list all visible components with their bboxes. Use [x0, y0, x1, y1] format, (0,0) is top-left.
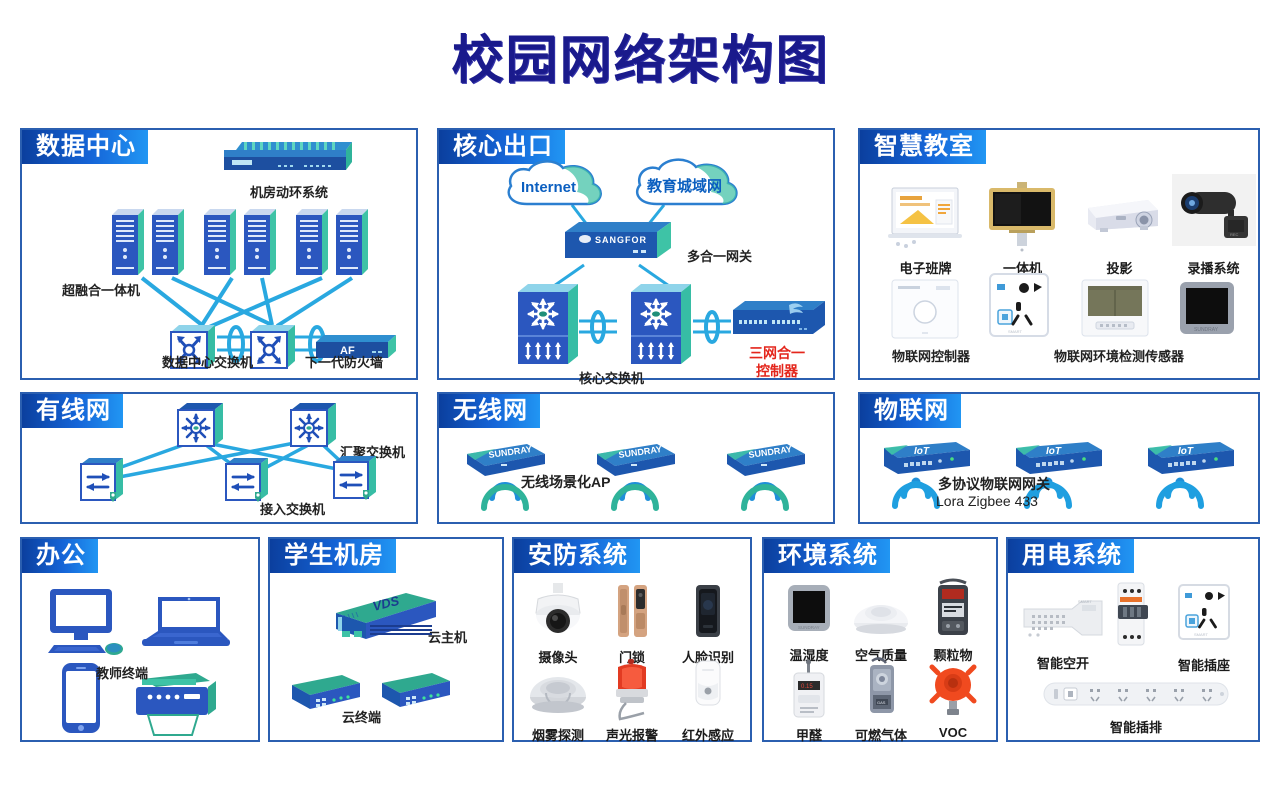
panel-environment-system: 环境系统 SUNDRAY 温湿度 空气质量 颗粒物	[762, 537, 998, 742]
security-item-door-lock: 门锁	[596, 581, 668, 666]
three-network-controller-icon	[729, 298, 829, 340]
svg-text:SMART: SMART	[1194, 632, 1208, 637]
smart-classroom-item-env-sensor-screen: SUNDRAY	[1160, 278, 1255, 344]
caption-formaldehyde: 甲醛	[774, 725, 844, 744]
access-switch-3-icon	[330, 454, 384, 506]
panel-power-system: 用电系统 SMART 智能空开	[1006, 537, 1260, 742]
panel-office: 办公	[20, 537, 260, 742]
panel-wireless-network: 无线网 SUNDRAY SUNDRAY	[437, 392, 835, 524]
caption-iot-controller: 物联网控制器	[892, 346, 970, 365]
caption-sound-light-alarm: 声光报警	[596, 725, 668, 744]
smart-classroom-item-env-sensor-panel	[1068, 278, 1163, 344]
caption-electronic-class-board: 电子班牌	[878, 258, 973, 277]
label-iot-gateway: 多协议物联网网关	[938, 474, 1050, 494]
label-access-switch: 接入交换机	[260, 499, 325, 518]
gateway-brand-label: SANGFOR	[595, 235, 647, 245]
label-hci: 超融合一体机	[62, 280, 140, 299]
panel-header-smart-classroom: 智慧教室	[860, 130, 986, 164]
label-dc-switch: 数据中心交换机	[162, 352, 253, 371]
label-wireless-ap: 无线场景化AP	[521, 472, 610, 492]
security-item-camera: 摄像头	[522, 581, 594, 666]
label-teacher-terminal: 教师终端	[96, 663, 148, 682]
access-switch-1-icon	[77, 456, 131, 508]
label-multi-function-gateway: 多合一网关	[687, 246, 752, 265]
multi-function-gateway-icon: SANGFOR	[559, 218, 679, 266]
label-iot-protocols: Lora Zigbee 433	[936, 493, 1038, 509]
panel-student-lab: 学生机房 VDS 云主机	[268, 537, 504, 742]
cloud-internet-icon: Internet	[501, 158, 611, 210]
iot-gateway-3-icon: IoT	[1142, 432, 1242, 516]
caption-infrared-sensor: 红外感应	[672, 725, 744, 744]
hci-server-group-2	[202, 205, 280, 281]
data-center-switch-2-icon	[247, 322, 302, 374]
label-core-switch: 核心交换机	[579, 368, 644, 387]
power-item-smart-breaker: SMART 智能空开	[1018, 591, 1108, 672]
label-cloud-terminal: 云终端	[342, 707, 381, 726]
panel-header-security-system: 安防系统	[514, 539, 640, 573]
environment-item-formaldehyde: 0.15 甲醛	[774, 659, 844, 744]
smart-classroom-item-electronic-class-board: 电子班牌	[878, 180, 973, 277]
hci-server-group-1	[110, 205, 188, 281]
wireless-ap-3-icon: SUNDRAY	[721, 432, 811, 514]
panel-core-exit: 核心出口 Internet 教育城域网 SANGFOR	[437, 128, 835, 380]
power-item-smart-power-strip: 智能插排	[1038, 677, 1234, 736]
svg-text:IoT: IoT	[1046, 446, 1062, 457]
hci-server-group-3	[294, 205, 372, 281]
caption-projector: 投影	[1072, 258, 1167, 277]
caption-smoke-detector: 烟雾探测	[522, 725, 594, 744]
label-cloud-host: 云主机	[428, 627, 467, 646]
environment-item-combustible-gas: GAS 可燃气体	[846, 655, 916, 744]
svg-text:SUNDRAY: SUNDRAY	[798, 625, 820, 630]
caption-combustible-gas: 可燃气体	[846, 725, 916, 744]
svg-text:0.15: 0.15	[801, 684, 813, 690]
caption-recording-system: 录播系统	[1166, 258, 1261, 277]
power-item-smart-breaker-unit	[1104, 579, 1160, 655]
caption-voc: VOC	[918, 725, 988, 740]
security-item-face-recognition: 人脸识别	[670, 581, 746, 666]
environment-item-particulate: 颗粒物	[918, 577, 988, 664]
cloud-internet-label: Internet	[521, 179, 576, 196]
svg-text:SMART: SMART	[1078, 599, 1092, 604]
smart-classroom-item-projector: 投影	[1072, 180, 1167, 277]
iot-brand-label: IoT	[914, 446, 930, 457]
svg-text:SMART: SMART	[1008, 329, 1022, 334]
smart-classroom-item-recording-system: REC 录播系统	[1166, 172, 1261, 277]
smart-classroom-item-smart-socket: SMART	[972, 272, 1067, 344]
label-three-network-controller-line1: 三网合一	[749, 343, 805, 363]
page-title: 校园网络架构图	[0, 18, 1281, 93]
caption-smart-power-strip: 智能插排	[1038, 717, 1234, 736]
svg-text:GAS: GAS	[877, 700, 886, 705]
panel-header-power-system: 用电系统	[1008, 539, 1134, 573]
label-next-gen-firewall: 下一代防火墙	[305, 352, 383, 371]
panel-security-system: 安防系统 摄像头 门锁	[512, 537, 752, 742]
panel-iot-network: 物联网 IoT IoT	[858, 392, 1260, 524]
cloud-terminal-2-icon	[378, 665, 456, 715]
caption-smart-socket: 智能插座	[1164, 655, 1244, 674]
security-item-sound-light-alarm: 声光报警	[596, 657, 668, 744]
panel-smart-classroom: 智慧教室 电子班牌 一体机	[858, 128, 1260, 380]
caption-iot-env-sensor: 物联网环境检测传感器	[1054, 346, 1184, 365]
panel-data-center: 数据中心 机房动环系统	[20, 128, 418, 380]
panel-header-wireless-network: 无线网	[439, 394, 540, 428]
environment-item-air-quality: 空气质量	[846, 587, 916, 664]
environment-item-voc: VOC	[918, 655, 988, 740]
power-item-smart-socket: SMART 智能插座	[1164, 583, 1244, 674]
aggregation-switch-1-icon	[174, 400, 230, 452]
cloud-education-man-icon: 教育城域网	[629, 156, 747, 210]
svg-text:REC: REC	[1230, 232, 1239, 237]
cloud-education-man-label: 教育城域网	[646, 177, 722, 195]
security-item-infrared-sensor: 红外感应	[672, 657, 744, 744]
security-item-smoke-detector: 烟雾探测	[522, 663, 594, 744]
panel-wired-network: 有线网	[20, 392, 418, 524]
laptop-icon	[140, 591, 232, 657]
smart-classroom-item-all-in-one-panel: 一体机	[975, 180, 1070, 277]
aggregation-switch-2-icon	[287, 400, 343, 452]
svg-text:SUNDRAY: SUNDRAY	[1194, 327, 1219, 333]
cloud-host-vds-icon: VDS	[332, 587, 440, 645]
panel-header-office: 办公	[22, 539, 98, 573]
panel-header-iot-network: 物联网	[860, 394, 961, 428]
svg-text:IoT: IoT	[1178, 446, 1194, 457]
panel-header-student-lab: 学生机房	[270, 539, 396, 573]
environment-item-temp-humidity: SUNDRAY 温湿度	[774, 583, 844, 664]
panel-header-environment-system: 环境系统	[764, 539, 890, 573]
caption-smart-breaker: 智能空开	[1018, 653, 1108, 672]
desktop-computer-icon	[44, 587, 130, 659]
label-three-network-controller-line2: 控制器	[756, 361, 798, 381]
smart-classroom-item-iot-controller	[878, 278, 973, 344]
